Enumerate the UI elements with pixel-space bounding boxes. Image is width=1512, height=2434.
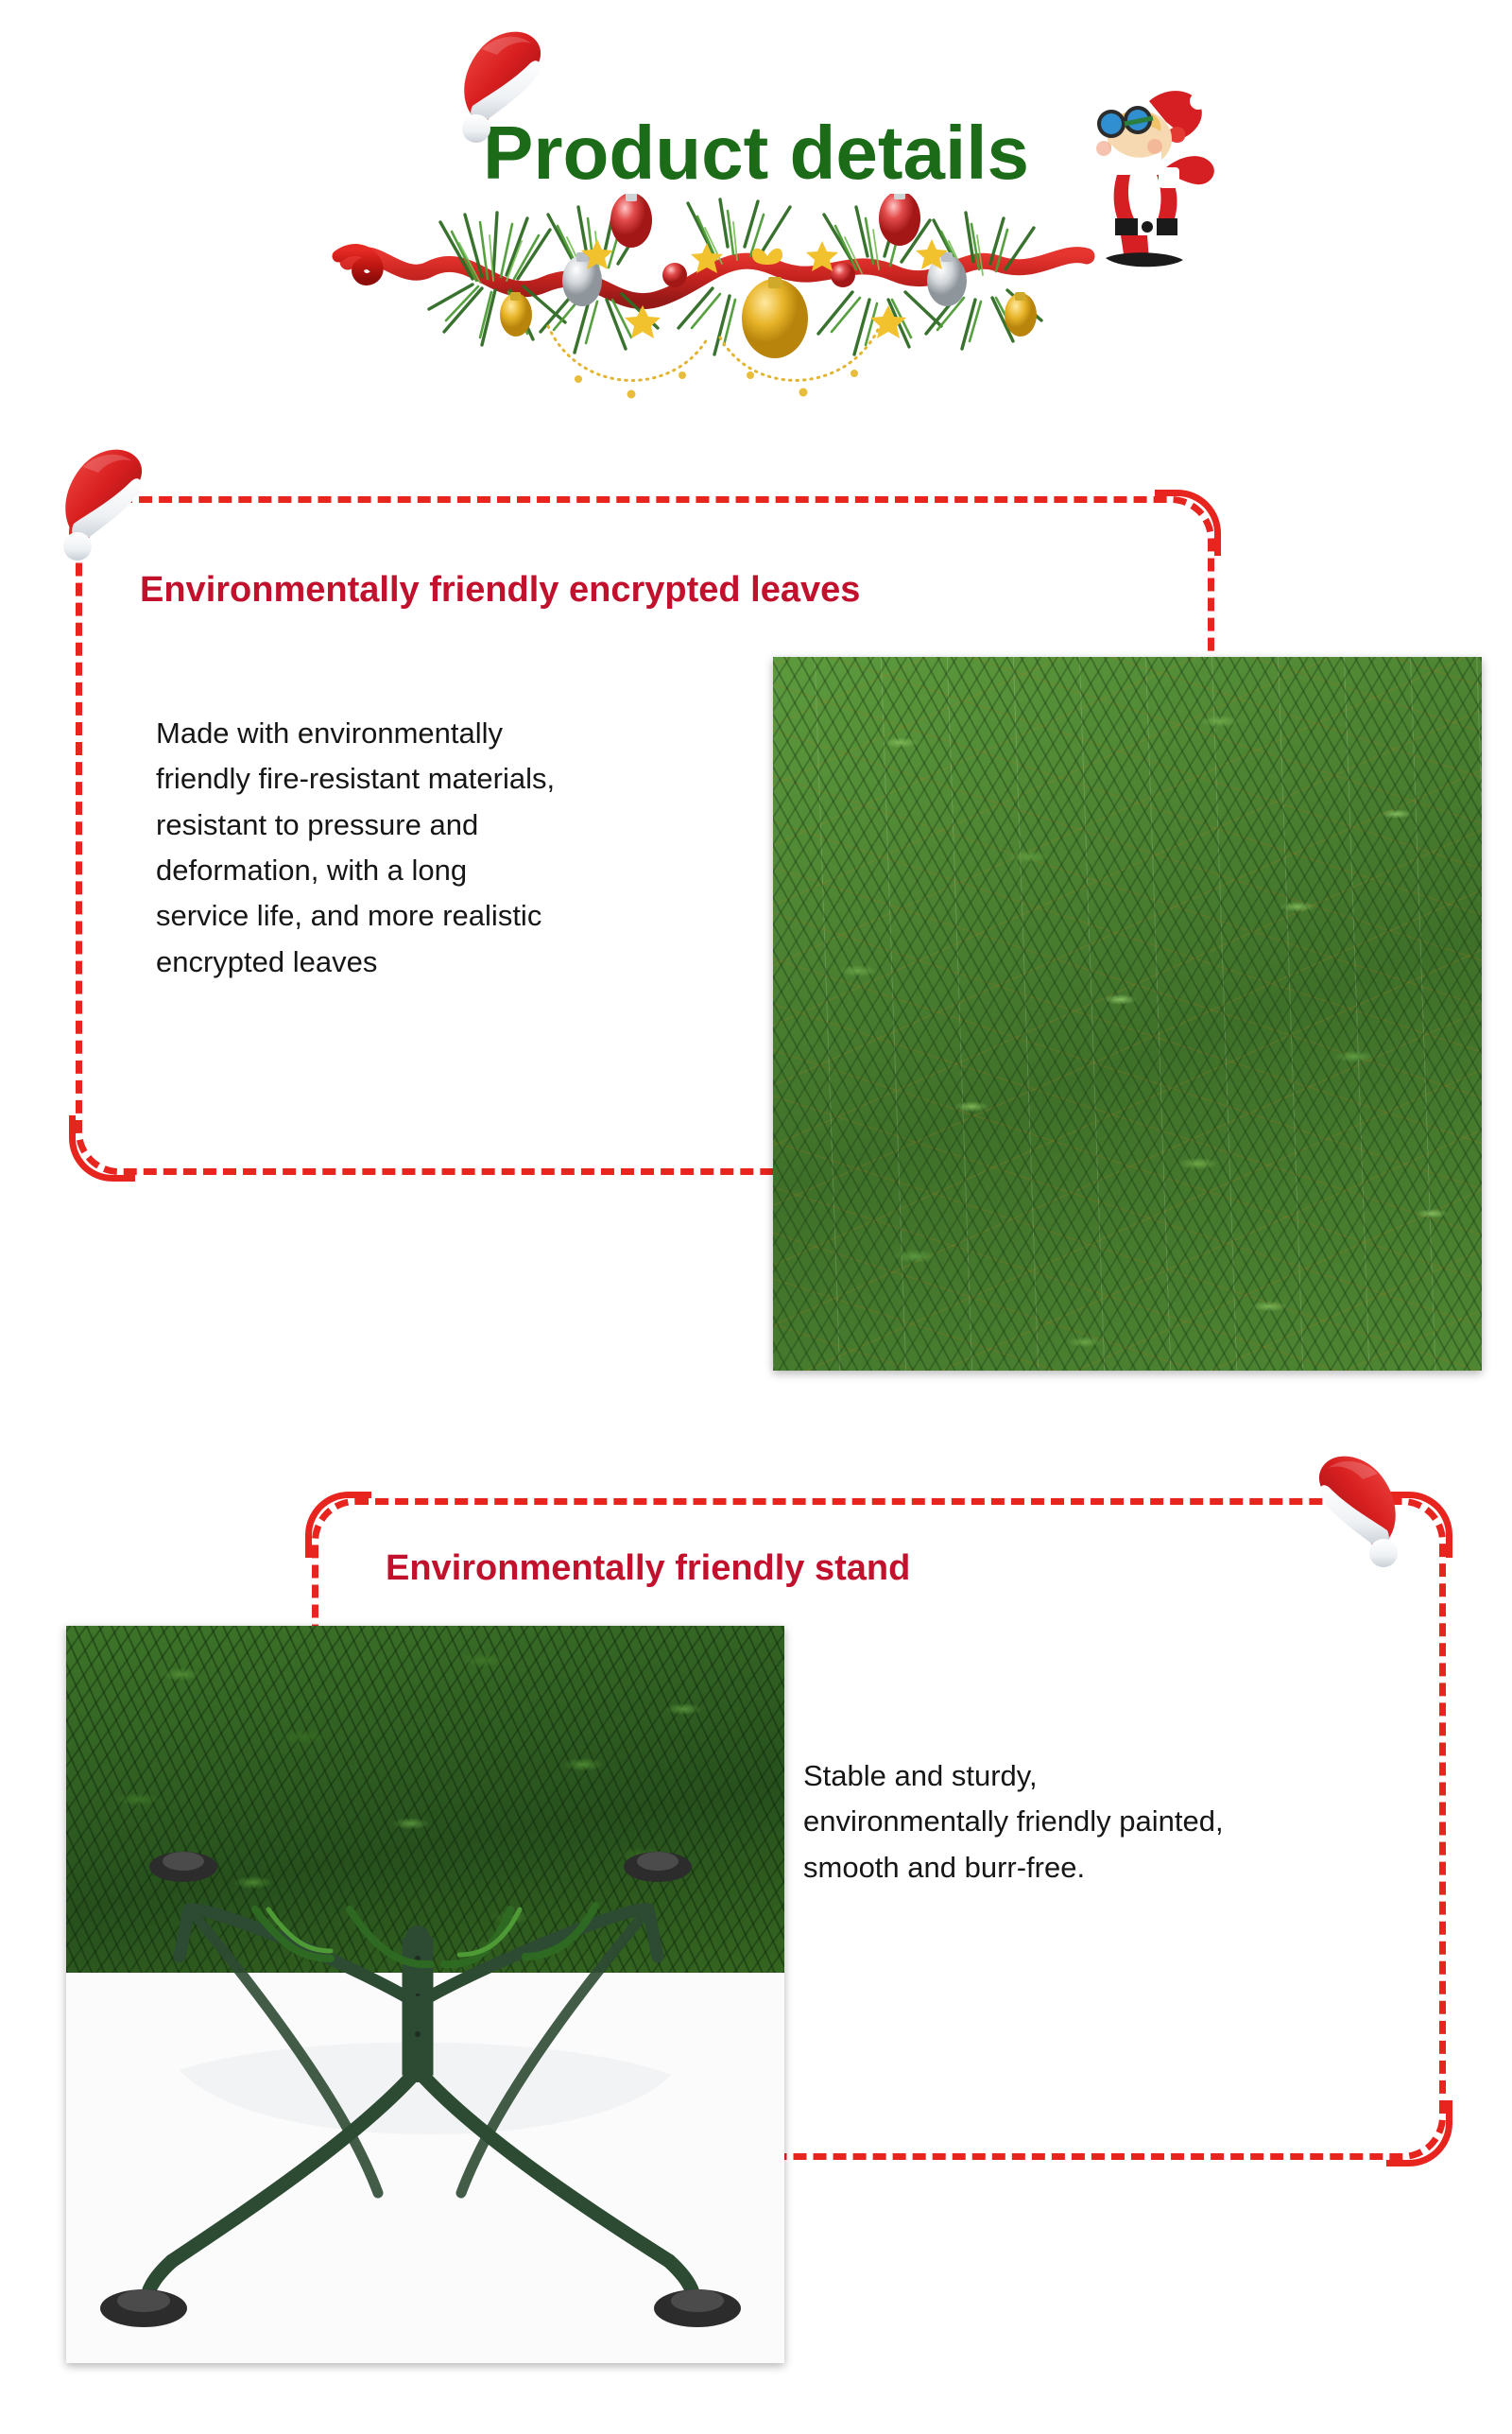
body-line: Stable and sturdy, <box>803 1753 1417 1799</box>
section-body-friendly-stand: Stable and sturdy, environmentally frien… <box>803 1753 1417 1890</box>
card-corner-top-left <box>305 1492 371 1558</box>
page-header: Product details <box>0 0 1512 435</box>
body-line: friendly fire-resistant materials, <box>156 756 780 802</box>
card-corner-top-right <box>1155 490 1221 556</box>
foliage-texture <box>773 657 1482 1371</box>
product-image-encrypted-leaves <box>773 657 1482 1371</box>
body-line: smooth and burr-free. <box>803 1845 1417 1890</box>
christmas-garland-icon <box>331 194 1106 411</box>
body-line: environmentally friendly painted, <box>803 1799 1417 1844</box>
santa-hat-icon <box>45 444 159 562</box>
santa-hat-icon <box>444 26 558 145</box>
body-line: resistant to pressure and <box>156 803 780 848</box>
body-line: service life, and more realistic <box>156 893 780 939</box>
product-details-page: Product details Environmentally friendly… <box>0 0 1512 2434</box>
tree-stand-icon <box>66 1626 784 2363</box>
section-heading-friendly-stand: Environmentally friendly stand <box>386 1550 910 1586</box>
body-line: encrypted leaves <box>156 940 780 985</box>
section-body-encrypted-leaves: Made with environmentally friendly fire-… <box>156 711 780 985</box>
body-line: Made with environmentally <box>156 711 780 756</box>
santa-claus-icon <box>1068 80 1228 269</box>
body-line: deformation, with a long <box>156 848 780 893</box>
card-corner-bottom-right <box>1386 2100 1452 2166</box>
section-heading-encrypted-leaves: Environmentally friendly encrypted leave… <box>140 572 860 608</box>
santa-hat-icon <box>1302 1451 1416 1569</box>
card-corner-bottom-left <box>69 1115 135 1182</box>
product-image-friendly-stand <box>66 1626 784 2363</box>
page-title: Product details <box>0 115 1512 191</box>
